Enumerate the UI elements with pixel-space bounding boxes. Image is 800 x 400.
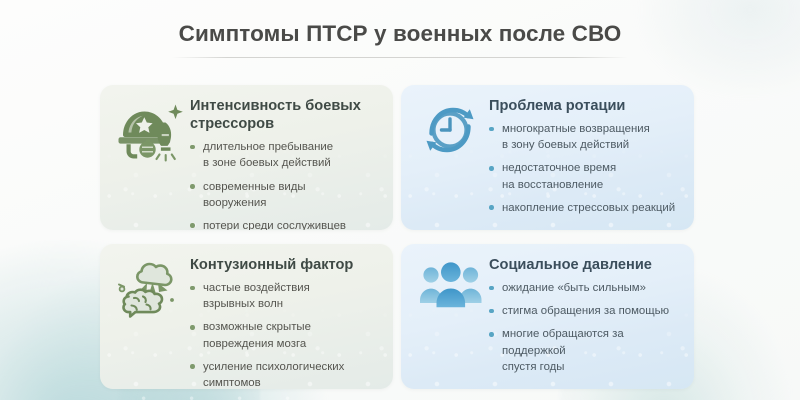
slide-header: Симптомы ПТСР у военных после СВО [0,0,800,76]
list-item: возможные скрытые повреждения мозга [190,319,381,351]
list-item: накопление стрессовых реакций [489,200,682,216]
card-title: Социальное давление [489,256,682,274]
card-intensity-of-combat-stressors[interactable]: Интенсивность боевых стрессоров длительн… [100,85,393,230]
brain-blast-icon [116,260,186,320]
list-item: многие обращаются за поддержкой спустя г… [489,326,682,375]
card-title: Проблема ротации [489,97,682,115]
clock-rotation-icon [423,103,479,157]
card-title: Контузионный фактор [190,256,381,274]
card-rotation-problem[interactable]: Проблема ротации многократные возвращени… [401,85,694,230]
card-bullet-list: длительное пребывание в зоне боевых дейс… [190,139,381,230]
symptom-card-grid: Интенсивность боевых стрессоров длительн… [100,85,694,389]
title-divider [172,57,628,58]
list-item: усиление психологических симптомов [190,359,381,389]
card-title: Интенсивность боевых стрессоров [190,97,381,133]
list-item: многократные возвращения в зону боевых д… [489,121,682,153]
card-icon-slot [413,254,489,379]
card-bullet-list: частые воздействия взрывных волн возможн… [190,280,381,389]
list-item: недостаточное время на восстановление [489,160,682,192]
card-icon-slot [112,95,190,220]
card-icon-slot [112,254,190,379]
card-bullet-list: многократные возвращения в зону боевых д… [489,121,682,216]
page-title: Симптомы ПТСР у военных после СВО [0,21,800,47]
group-of-people-icon [420,262,482,308]
card-concussion-factor[interactable]: Контузионный фактор частые воздействия в… [100,244,393,389]
list-item: длительное пребывание в зоне боевых дейс… [190,139,381,171]
military-helmet-grenade-icon [118,101,184,163]
slide-canvas: Симптомы ПТСР у военных после СВО [0,0,800,400]
card-social-pressure[interactable]: Социальное давление ожидание «быть сильн… [401,244,694,389]
card-bullet-list: ожидание «быть сильным» стигма обращения… [489,280,682,375]
list-item: современные виды вооружения [190,179,381,211]
list-item: стигма обращения за помощью [489,303,682,319]
list-item: частые воздействия взрывных волн [190,280,381,312]
list-item: ожидание «быть сильным» [489,280,682,296]
card-icon-slot [413,95,489,220]
list-item: потери среди сослуживцев [190,218,381,230]
